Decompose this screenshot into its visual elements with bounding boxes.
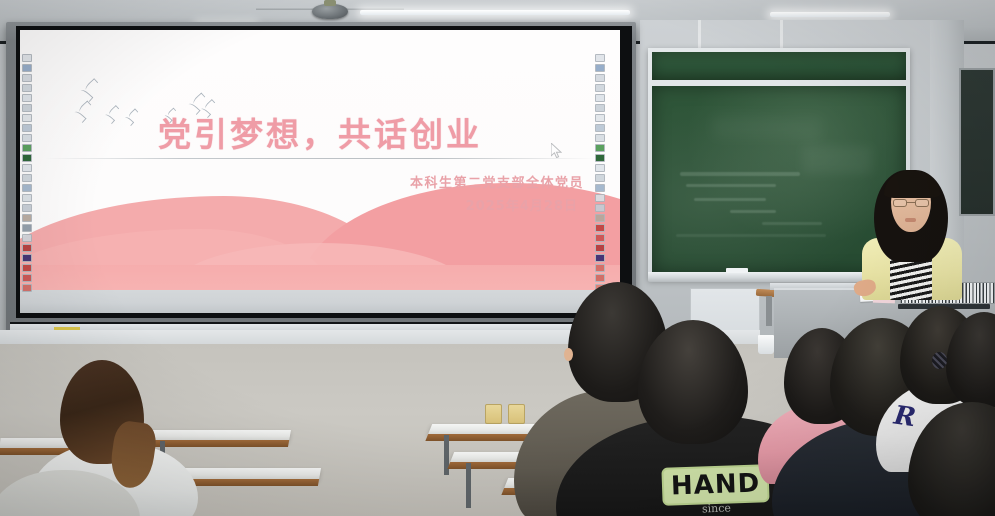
tool-icon[interactable] [22,74,32,82]
wall-seam [698,20,701,48]
tool-icon[interactable] [22,104,32,112]
fluorescent-light-icon [360,10,630,15]
classroom-photo-scene: 党引梦想，共话创业 本科生第二党支部全体党员 2025年4月28日 [0,0,995,516]
hair-tie-icon [932,352,947,369]
student-head [946,312,995,408]
tshirt-graphic-subtext: since [702,501,731,515]
tool-icon[interactable] [595,94,605,102]
tool-icon[interactable] [22,174,32,182]
slide-subtitle-date: 2025年4月28日 [20,195,620,214]
tool-icon[interactable] [22,54,32,62]
tool-icon[interactable] [595,64,605,72]
student-head [908,402,995,516]
wall-mounted-panel [959,68,995,216]
tool-icon[interactable] [595,164,605,172]
tool-icon[interactable] [22,264,32,272]
tool-icon[interactable] [22,184,32,192]
mouse-pointer-icon [551,143,562,158]
tshirt-graphic-text: HAND [663,466,767,504]
slide-divider-rule [44,158,596,159]
tool-icon[interactable] [595,74,605,82]
tool-icon[interactable] [22,214,32,222]
tool-icon[interactable] [22,244,32,252]
power-outlet-box [508,404,525,424]
power-outlet-box [485,404,502,424]
tool-icon[interactable] [22,94,32,102]
projection-screen[interactable]: 党引梦想，共话创业 本科生第二党支部全体党员 2025年4月28日 [6,22,636,340]
tool-icon[interactable] [595,154,605,162]
tool-icon[interactable] [595,184,605,192]
tool-icon[interactable] [22,224,32,232]
chalk-piece [726,268,748,273]
tool-icon[interactable] [22,254,32,262]
slide-footer-band [20,290,620,313]
tool-icon[interactable] [595,144,605,152]
tool-icon[interactable] [22,84,32,92]
presenter [860,168,964,298]
tool-icon[interactable] [595,84,605,92]
student-ear [564,348,573,361]
tool-icon[interactable] [22,234,32,242]
tool-icon[interactable] [595,224,605,232]
slide-hill-base [20,265,620,291]
whiteboard-tool-palette-left[interactable] [20,54,33,292]
tool-icon[interactable] [22,204,32,212]
tool-icon[interactable] [22,194,32,202]
tool-icon[interactable] [595,114,605,122]
tool-icon[interactable] [595,274,605,282]
student-torso [0,470,140,516]
tool-icon[interactable] [595,124,605,132]
slide-title: 党引梦想，共话创业 [20,108,620,156]
tool-icon[interactable] [595,134,605,142]
tool-icon[interactable] [22,144,32,152]
tool-icon[interactable] [22,114,32,122]
desk-leg [444,435,449,475]
tool-icon[interactable] [22,164,32,172]
presenter-mouth [905,218,916,222]
tool-icon[interactable] [22,154,32,162]
tool-icon[interactable] [595,244,605,252]
tool-icon[interactable] [22,124,32,132]
tool-icon[interactable] [22,134,32,142]
tool-icon[interactable] [22,274,32,282]
tool-icon[interactable] [595,214,605,222]
ceiling-fan-icon [300,0,360,24]
tool-icon[interactable] [22,64,32,72]
tool-icon[interactable] [595,104,605,112]
slide-subtitle-organization: 本科生第二党支部全体党员 [20,172,620,191]
slide-surface[interactable]: 党引梦想，共话创业 本科生第二党支部全体党员 2025年4月28日 [20,30,620,313]
tool-icon[interactable] [595,54,605,62]
tool-icon[interactable] [595,234,605,242]
tool-icon[interactable] [595,174,605,182]
wall-seam [780,20,783,48]
tool-icon[interactable] [22,284,32,292]
tool-icon[interactable] [595,264,605,272]
chalkboard-upper-panel [652,52,906,80]
tool-icon[interactable] [595,254,605,262]
student-head [638,320,748,444]
tool-icon[interactable] [595,194,605,202]
fluorescent-light-icon [770,12,890,17]
student-front-right [908,402,995,516]
glasses-icon [893,199,929,207]
student-bottom-left [0,470,130,516]
tool-icon[interactable] [595,204,605,212]
whiteboard-tool-palette-right[interactable] [593,54,606,292]
desk-leg [466,463,471,508]
